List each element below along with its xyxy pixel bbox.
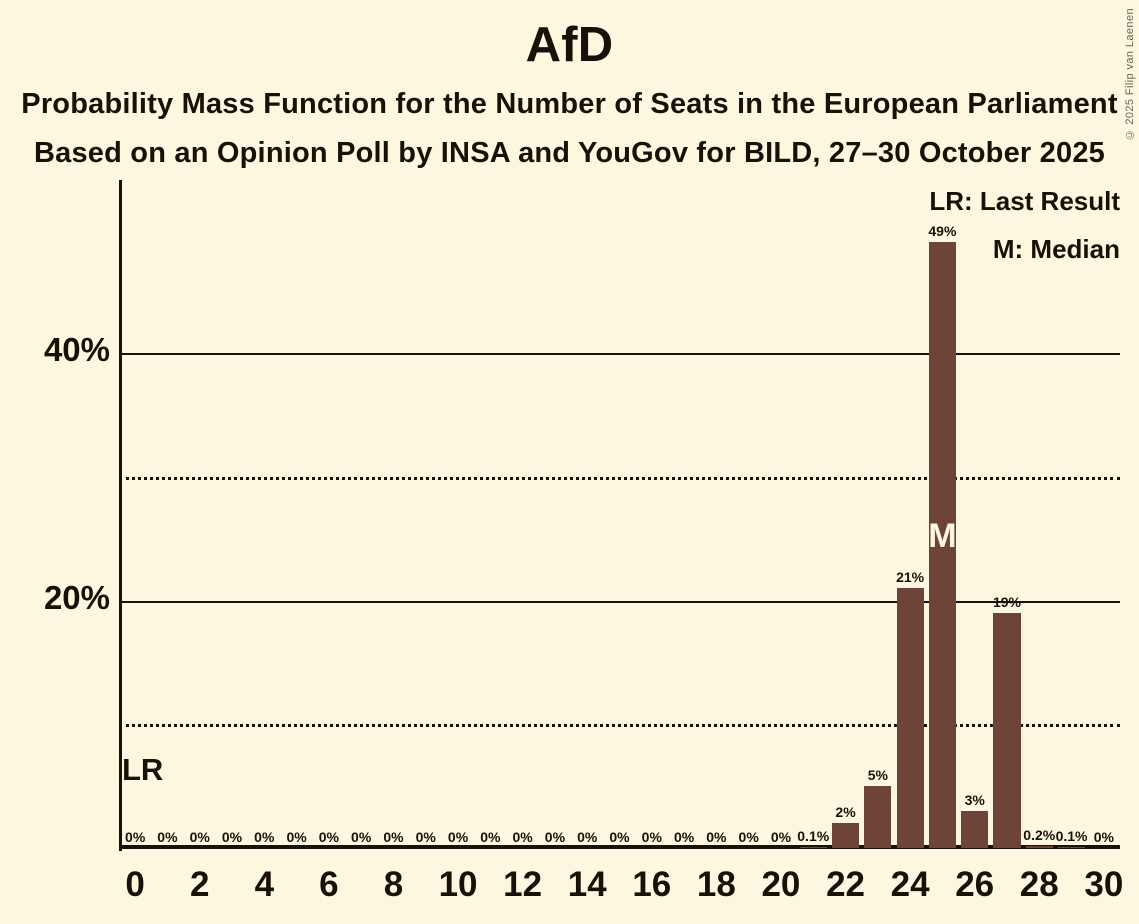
chart-subtitle-secondary: Based on an Opinion Poll by INSA and You… [0, 134, 1139, 172]
bar-seat-28[interactable] [1026, 846, 1053, 848]
median-marker: M [902, 517, 982, 556]
chart-subtitle-primary: Probability Mass Function for the Number… [0, 85, 1139, 123]
bar-seat-26[interactable] [961, 811, 988, 848]
bar-seat-24[interactable] [897, 588, 924, 848]
plot-area: 0%0%0%0%0%0%0%0%0%0%0%0%0%0%0%0%0%0%0%0%… [119, 180, 1120, 848]
copyright-notice: © 2025 Filip van Laenen [1124, 8, 1138, 141]
bar-seat-21[interactable] [800, 847, 827, 848]
chart-canvas: AfD Probability Mass Function for the Nu… [0, 0, 1139, 924]
gridline-10pct [119, 724, 1120, 727]
x-tick-label-30: 30 [1064, 865, 1139, 905]
last-result-marker: LR [122, 752, 163, 788]
bar-seat-22[interactable] [832, 823, 859, 848]
bar-seat-23[interactable] [864, 786, 891, 848]
bar-value-label-seat-25: 49% [902, 223, 982, 239]
chart-title: AfD [0, 17, 1139, 73]
gridline-30pct [119, 477, 1120, 480]
bar-seat-29[interactable] [1058, 847, 1085, 848]
bar-value-label-seat-27: 19% [967, 594, 1047, 610]
y-tick-label-40: 40% [0, 331, 110, 369]
bar-value-label-seat-30: 0% [1064, 829, 1139, 845]
gridline-40pct [119, 353, 1120, 355]
bar-seat-27[interactable] [993, 613, 1020, 848]
y-tick-label-20: 20% [0, 579, 110, 617]
